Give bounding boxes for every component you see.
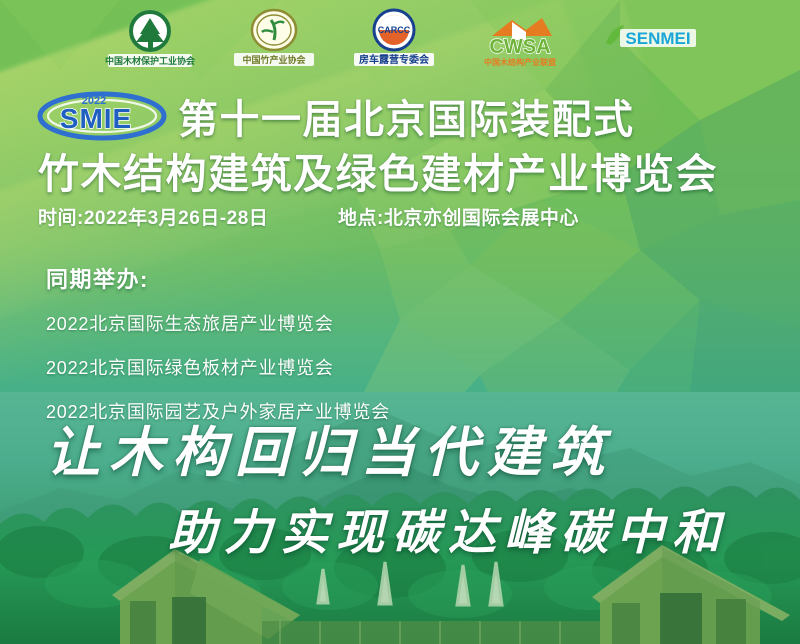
svg-text:SENMEI: SENMEI [625,29,690,48]
event-time: 时间:2022年3月26日-28日 [38,203,338,230]
event-meta: 时间:2022年3月26日-28日 地点:北京亦创国际会展中心 [38,203,758,230]
headline-block: 2022 SMIE 第十一届北京国际装配式 竹木结构建筑及绿色建材产业博览会 [36,92,776,196]
svg-text:CARCC: CARCC [378,25,411,35]
svg-text:中国木结构产业联盟: 中国木结构产业联盟 [484,57,556,67]
concurrent-event-item: 2022北京国际生态旅居产业博览会 [46,310,566,336]
concurrent-events-title: 同期举办: [46,262,566,294]
slogan-block: 让木构回归当代建筑 助力实现碳达峰碳中和 [0,408,800,563]
headline-line-1: 第十一届北京国际装配式 [178,99,635,141]
headline-line-2: 竹木结构建筑及绿色建材产业博览会 [38,153,776,196]
bamboo-industry-association-logo[interactable]: 中国竹产业协会 [228,8,320,70]
slogan-line-2: 助力实现碳达峰碳中和 [168,493,800,563]
exhibition-poster: 中国木材保护工业协会 中国竹产业协会 CARCC 房车露营专委会 [0,0,800,644]
svg-text:中国竹产业协会: 中国竹产业协会 [242,54,306,65]
smie-brand-mark: 2022 SMIE [36,88,168,149]
event-place: 地点:北京亦创国际会展中心 [338,203,579,230]
svg-text:中国木材保护工业协会: 中国木材保护工业协会 [105,55,196,66]
china-timber-protection-association-logo[interactable]: 中国木材保护工业协会 [98,8,202,70]
svg-text:CWSA: CWSA [489,36,550,58]
senmei-logo[interactable]: SENMEI [598,13,702,65]
cwsa-wood-structure-association-logo[interactable]: CWSA 中国木结构产业联盟 [468,8,572,70]
smie-wordmark-text: SMIE [60,103,132,134]
concurrent-event-item: 2022北京国际绿色板材产业博览会 [46,354,566,380]
slogan-line-1: 让木构回归当代建筑 [46,408,800,487]
organizer-logo-strip: 中国木材保护工业协会 中国竹产业协会 CARCC 房车露营专委会 [0,0,800,78]
svg-text:房车露营专委会: 房车露营专委会 [359,53,429,66]
carcc-rv-camping-committee-logo[interactable]: CARCC 房车露营专委会 [346,8,442,70]
